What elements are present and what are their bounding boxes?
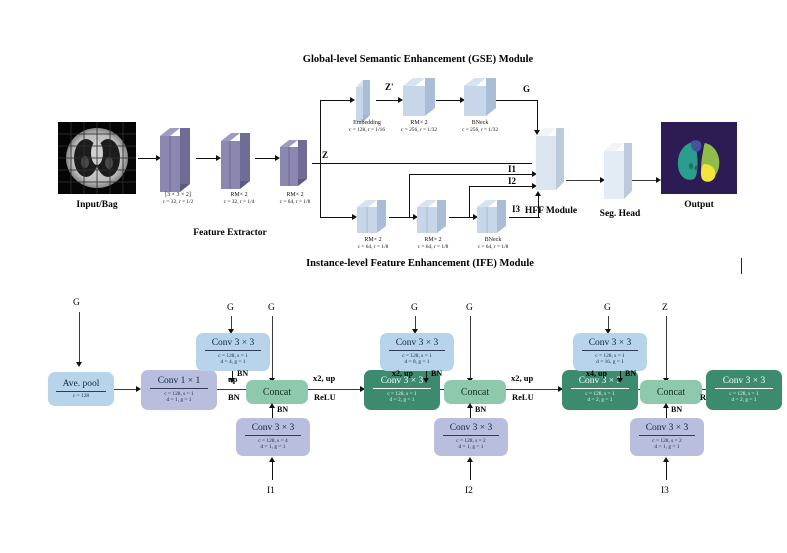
stage1-bottom-conv-node[interactable]: Conv 3 × 3 c = 128, s = 4 d = 1, g = 1	[236, 418, 310, 456]
rule	[150, 388, 207, 389]
stage3-bottom-conv-node[interactable]: Conv 3 × 3 c = 128, s = 2 d = 1, g = 1	[630, 418, 704, 456]
gse-block-rm	[403, 78, 435, 124]
i1-to-stage1-line	[272, 462, 273, 480]
gse-block-2-title: RM× 2	[384, 120, 454, 127]
g-out-line	[496, 100, 538, 101]
arrowhead	[350, 97, 355, 103]
arrow-avepool-conv1x1	[114, 389, 136, 390]
seg-head-block	[604, 143, 632, 207]
stage3-bn-top-label: BN	[625, 369, 636, 378]
conv1x1-title: Conv 1 × 1	[158, 376, 201, 387]
tag-z: Z	[322, 150, 328, 160]
tag-z-prime: Z'	[385, 82, 394, 92]
output-segmentation-image	[661, 122, 737, 194]
i2-line	[469, 186, 532, 187]
stage2-top-title: Conv 3 × 3	[396, 338, 439, 349]
stage2-g-skip-label: G	[466, 303, 473, 313]
gse-block-3-sub: c = 256, r = 1/32	[445, 127, 515, 134]
z-down-branch	[320, 163, 321, 218]
arrowhead	[617, 378, 623, 383]
final-conv-node[interactable]: Conv 3 × 3 c = 128, s = 1 d = 2, g = 1	[706, 370, 782, 410]
stage1-top-sub2: d = 4, g = 1	[221, 359, 246, 365]
stage3-bottom-sub2: d = 1, g = 1	[655, 444, 680, 450]
stage2-out-upper-label: x2, up	[511, 373, 533, 383]
page-tick-mark	[741, 258, 742, 274]
gse-module-title: Global-level Semantic Enhancement (GSE) …	[298, 54, 538, 65]
hff-input-g-label: G	[73, 298, 80, 308]
arrow-fe1-fe2	[196, 158, 216, 159]
stage1-concat-node[interactable]: Concat	[246, 380, 308, 404]
stage3-concat-node[interactable]: Concat	[640, 380, 702, 404]
rule	[56, 391, 105, 392]
rule	[389, 350, 445, 351]
fe-block-2	[221, 133, 255, 189]
g-to-avepool-line	[79, 312, 80, 362]
ife-block-1	[357, 200, 389, 240]
stage2-bn-bottom-label: BN	[475, 405, 486, 414]
stage2-i2-label: I2	[465, 486, 473, 496]
arrow-hff-seghead	[566, 180, 600, 181]
hff-caption: HFF Module	[505, 206, 597, 216]
stage3-top-title: Conv 3 × 3	[589, 338, 632, 349]
stage2-concat-title: Concat	[461, 387, 489, 398]
ife-block-3-sub: c = 64, r = 1/8	[458, 244, 528, 251]
arrowhead	[229, 378, 235, 383]
stage1-top-conv-node[interactable]: Conv 3 × 3 c = 128, s = 1 d = 4, g = 1	[196, 333, 270, 371]
rule	[571, 388, 628, 389]
arrowhead	[76, 362, 82, 367]
gse-block-2-sub: c = 256, r = 1/32	[384, 127, 454, 134]
conv1x1-sub2: d = 1, g = 1	[167, 397, 192, 403]
stage2-top-conv-node[interactable]: Conv 3 × 3 c = 128, s = 1 d = 8, g = 1	[380, 333, 454, 371]
final-conv-title: Conv 3 × 3	[723, 376, 766, 387]
stage3-top-sub2: d = 16, g = 1	[596, 359, 624, 365]
output-caption: Output	[661, 200, 737, 210]
g-down-line	[537, 100, 538, 130]
ave-pool-node[interactable]: Ave. pool c = 128	[48, 372, 114, 406]
ave-pool-sub1: c = 128	[73, 393, 89, 399]
ife-module-title: Instance-level Feature Enhancement (IFE)…	[285, 258, 555, 269]
seg-head-caption: Seg. Head	[586, 209, 654, 219]
arrowhead	[269, 457, 275, 462]
final-conv-sub2: d = 2, g = 1	[732, 397, 757, 403]
hff-block	[536, 128, 564, 198]
feature-extractor-caption: Feature Extractor	[140, 228, 320, 238]
stage2-concat-node[interactable]: Concat	[444, 380, 506, 404]
rule	[245, 435, 301, 436]
z-skip-stage3	[666, 316, 667, 378]
fe-block-3	[280, 140, 312, 186]
rule	[582, 350, 638, 351]
stage1-i1-label: I1	[267, 486, 275, 496]
rule	[205, 350, 261, 351]
stage3-top-conv-node[interactable]: Conv 3 × 3 c = 128, s = 1 d = 16, g = 1	[573, 333, 647, 371]
stage2-g-top-label: G	[411, 303, 418, 313]
rule	[715, 388, 772, 389]
stage1-bn-top-label: BN	[237, 369, 248, 378]
stage3-bottom-title: Conv 3 × 3	[646, 423, 689, 434]
stage1-out-lower-label: ReLU	[314, 392, 336, 402]
stage2-up-top-label: x2, up	[392, 369, 413, 378]
arrow-fe2-fe3	[255, 158, 275, 159]
g-to-stage1-top	[231, 316, 232, 329]
figure-canvas: Global-level Semantic Enhancement (GSE) …	[0, 0, 787, 553]
ife-block-3-title: BNeck	[458, 237, 528, 244]
stage2-bottom-sub2: d = 1, g = 1	[459, 444, 484, 450]
stage1-out-upper-label: x2, up	[313, 373, 335, 383]
rule	[443, 435, 499, 436]
g-to-stage2-top	[415, 316, 416, 329]
arrow-embed-rm	[376, 100, 398, 101]
arrowhead	[467, 457, 473, 462]
stage3-z-skip-label: Z	[662, 303, 668, 313]
z-to-embedding	[320, 100, 350, 101]
arrowhead	[663, 403, 669, 408]
input-ct-image	[58, 122, 136, 194]
stage1-concat-title: Concat	[263, 387, 291, 398]
stage2-bottom-conv-node[interactable]: Conv 3 × 3 c = 128, s = 2 d = 1, g = 1	[434, 418, 508, 456]
stage3-g-top-label: G	[604, 303, 611, 313]
stage3-concat-title: Concat	[657, 387, 685, 398]
arrowhead	[269, 403, 275, 408]
stage1-g-top-label: G	[227, 303, 234, 313]
gse-block-3-title: BNeck	[445, 120, 515, 127]
i2-up-line	[469, 186, 470, 218]
tag-i2: I2	[508, 176, 516, 186]
input-caption: Input/Bag	[58, 200, 136, 210]
arrowhead	[663, 457, 669, 462]
stage3-up-top-label: x4, up	[586, 369, 607, 378]
i2-to-stage2-line	[470, 462, 471, 480]
conv1x1-node[interactable]: Conv 1 × 1 c = 128, s = 1 d = 1, g = 1	[141, 370, 217, 410]
g-skip-stage1	[272, 316, 273, 378]
g-skip-stage2	[470, 316, 471, 378]
stage2-out-lower-label: ReLU	[512, 392, 534, 402]
arrowhead	[467, 403, 473, 408]
stage3-main-sub2: d = 2, g = 1	[588, 397, 613, 403]
arrow-input-to-fe	[138, 158, 156, 159]
ife-block-2	[417, 200, 449, 240]
arrowhead	[423, 378, 429, 383]
arrow-rm-bneck	[436, 100, 460, 101]
stage1-bottom-title: Conv 3 × 3	[252, 423, 295, 434]
i3-line	[509, 217, 540, 218]
stage3-bn-bottom-label: BN	[671, 405, 682, 414]
stage2-top-sub2: d = 8, g = 1	[405, 359, 430, 365]
arrow-stage2-stage3	[506, 389, 558, 390]
i3-to-stage3-line	[666, 462, 667, 480]
stage1-bottom-sub2: d = 1, g = 1	[261, 444, 286, 450]
g-to-stage3-top	[608, 316, 609, 329]
gse-block-bneck	[464, 78, 496, 124]
i1-up-line	[409, 174, 410, 218]
z-to-ife	[320, 217, 352, 218]
rule	[373, 388, 430, 389]
fe-block-1	[160, 128, 196, 192]
stage2-bn-top-label: BN	[431, 369, 442, 378]
ave-pool-title: Ave. pool	[63, 379, 100, 390]
stage1-bn-bottom-label: BN	[277, 405, 288, 414]
stage2-bottom-title: Conv 3 × 3	[450, 423, 493, 434]
stage1-bn-label: BN	[228, 392, 240, 402]
stage1-g-skip-label: G	[268, 303, 275, 313]
stage1-top-title: Conv 3 × 3	[212, 338, 255, 349]
z-up-branch	[320, 100, 321, 164]
tag-g: G	[523, 84, 530, 94]
stage3-i3-label: I3	[661, 486, 669, 496]
arrow-stage1-stage2	[308, 389, 360, 390]
stage2-main-sub2: d = 2, g = 1	[390, 397, 415, 403]
z-trunk-line	[312, 163, 532, 164]
tag-i1: I1	[508, 164, 516, 174]
rule	[639, 435, 695, 436]
gse-block-embedding	[356, 80, 374, 122]
arrow-seghead-output	[632, 180, 656, 181]
